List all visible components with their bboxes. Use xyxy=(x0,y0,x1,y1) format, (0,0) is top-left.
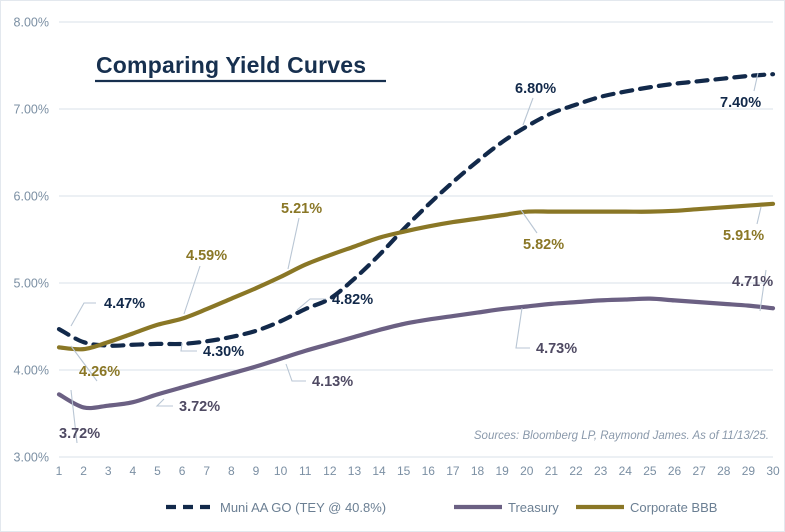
yield-curve-chart-card: 3.00%4.00%5.00%6.00%7.00%8.00% 123456789… xyxy=(0,0,785,532)
x-axis-tick-label: 11 xyxy=(299,464,312,478)
leader-line xyxy=(286,364,306,381)
data-label-3-72pct: 3.72% xyxy=(179,399,220,415)
leader-line xyxy=(516,308,530,348)
data-label-5-82pct: 5.82% xyxy=(523,237,564,253)
legend-item-corporate-bbb[interactable]: Corporate BBB xyxy=(576,500,717,515)
x-axis-tick-label: 28 xyxy=(717,464,731,478)
chart-canvas: 3.00%4.00%5.00%6.00%7.00%8.00% 123456789… xyxy=(1,1,785,532)
leader-line xyxy=(523,98,533,125)
data-label-4-71pct: 4.71% xyxy=(732,274,773,290)
data-labels: 4.47%4.30%4.82%6.80%7.40%4.26%4.59%5.21%… xyxy=(59,81,773,442)
y-axis-tick-labels: 3.00%4.00%5.00%6.00%7.00%8.00% xyxy=(14,16,49,465)
data-label-7-40pct: 7.40% xyxy=(720,95,761,111)
data-label-3-72pct: 3.72% xyxy=(59,426,100,442)
leader-line xyxy=(757,207,761,224)
x-axis-tick-label: 21 xyxy=(545,464,559,478)
x-axis-tick-label: 18 xyxy=(471,464,485,478)
leader-line xyxy=(288,218,299,269)
x-axis-tick-label: 27 xyxy=(692,464,706,478)
series-line-treasury xyxy=(59,299,773,408)
data-label-4-13pct: 4.13% xyxy=(312,374,353,390)
x-axis-tick-label: 16 xyxy=(422,464,436,478)
x-axis-tick-label: 13 xyxy=(348,464,362,478)
x-axis-tick-label: 3 xyxy=(105,464,112,478)
y-axis-tick-label: 7.00% xyxy=(14,103,49,117)
x-axis-tick-label: 8 xyxy=(228,464,235,478)
source-note: Sources: Bloomberg LP, Raymond James. As… xyxy=(474,430,769,442)
x-axis-tick-label: 1 xyxy=(56,464,63,478)
data-label-5-91pct: 5.91% xyxy=(723,228,764,244)
x-axis-tick-labels: 1234567891011121314151617181920212223242… xyxy=(56,464,780,478)
x-axis-tick-label: 5 xyxy=(154,464,161,478)
y-axis-tick-label: 3.00% xyxy=(14,451,49,465)
chart-title-group: Comparing Yield Curves xyxy=(95,52,386,81)
x-axis-tick-label: 19 xyxy=(495,464,509,478)
x-axis-tick-label: 17 xyxy=(446,464,460,478)
x-axis-tick-label: 10 xyxy=(274,464,288,478)
data-label-4-47pct: 4.47% xyxy=(104,296,145,312)
y-axis-tick-label: 5.00% xyxy=(14,277,49,291)
legend-label: Muni AA GO (TEY @ 40.8%) xyxy=(220,500,386,515)
chart-legend: Muni AA GO (TEY @ 40.8%)TreasuryCorporat… xyxy=(166,500,717,515)
y-axis-tick-label: 8.00% xyxy=(14,16,49,30)
data-label-5-21pct: 5.21% xyxy=(281,201,322,217)
x-axis-tick-label: 4 xyxy=(130,464,137,478)
x-axis-tick-label: 12 xyxy=(323,464,337,478)
legend-item-treasury[interactable]: Treasury xyxy=(454,500,559,515)
leader-line xyxy=(71,303,96,326)
y-axis-tick-label: 6.00% xyxy=(14,190,49,204)
x-axis-tick-label: 23 xyxy=(594,464,608,478)
x-axis-tick-label: 25 xyxy=(643,464,657,478)
series-line-corporate-bbb xyxy=(59,204,773,349)
series-lines xyxy=(59,74,773,408)
data-label-4-26pct: 4.26% xyxy=(79,364,120,380)
x-axis-tick-label: 9 xyxy=(253,464,260,478)
x-axis-tick-label: 22 xyxy=(569,464,583,478)
x-axis-tick-label: 14 xyxy=(372,464,386,478)
legend-label: Corporate BBB xyxy=(630,500,717,515)
x-axis-tick-label: 29 xyxy=(742,464,756,478)
x-axis-tick-label: 20 xyxy=(520,464,534,478)
y-axis-tick-label: 4.00% xyxy=(14,364,49,378)
page-title: Comparing Yield Curves xyxy=(96,52,366,78)
x-axis-tick-label: 15 xyxy=(397,464,411,478)
legend-label: Treasury xyxy=(508,500,559,515)
data-label-6-80pct: 6.80% xyxy=(515,81,556,97)
leader-line xyxy=(184,266,200,314)
x-axis-tick-label: 26 xyxy=(668,464,682,478)
x-axis-tick-label: 6 xyxy=(179,464,186,478)
x-axis-tick-label: 24 xyxy=(619,464,633,478)
data-label-4-59pct: 4.59% xyxy=(186,248,227,264)
x-axis-tick-label: 30 xyxy=(766,464,780,478)
data-label-4-73pct: 4.73% xyxy=(536,341,577,357)
legend-item-muni-aa-go-tey-40-8[interactable]: Muni AA GO (TEY @ 40.8%) xyxy=(166,500,386,515)
data-label-4-30pct: 4.30% xyxy=(203,344,244,360)
x-axis-tick-label: 7 xyxy=(203,464,210,478)
leader-line xyxy=(157,399,173,406)
data-label-4-82pct: 4.82% xyxy=(332,292,373,308)
x-axis-tick-label: 2 xyxy=(80,464,87,478)
